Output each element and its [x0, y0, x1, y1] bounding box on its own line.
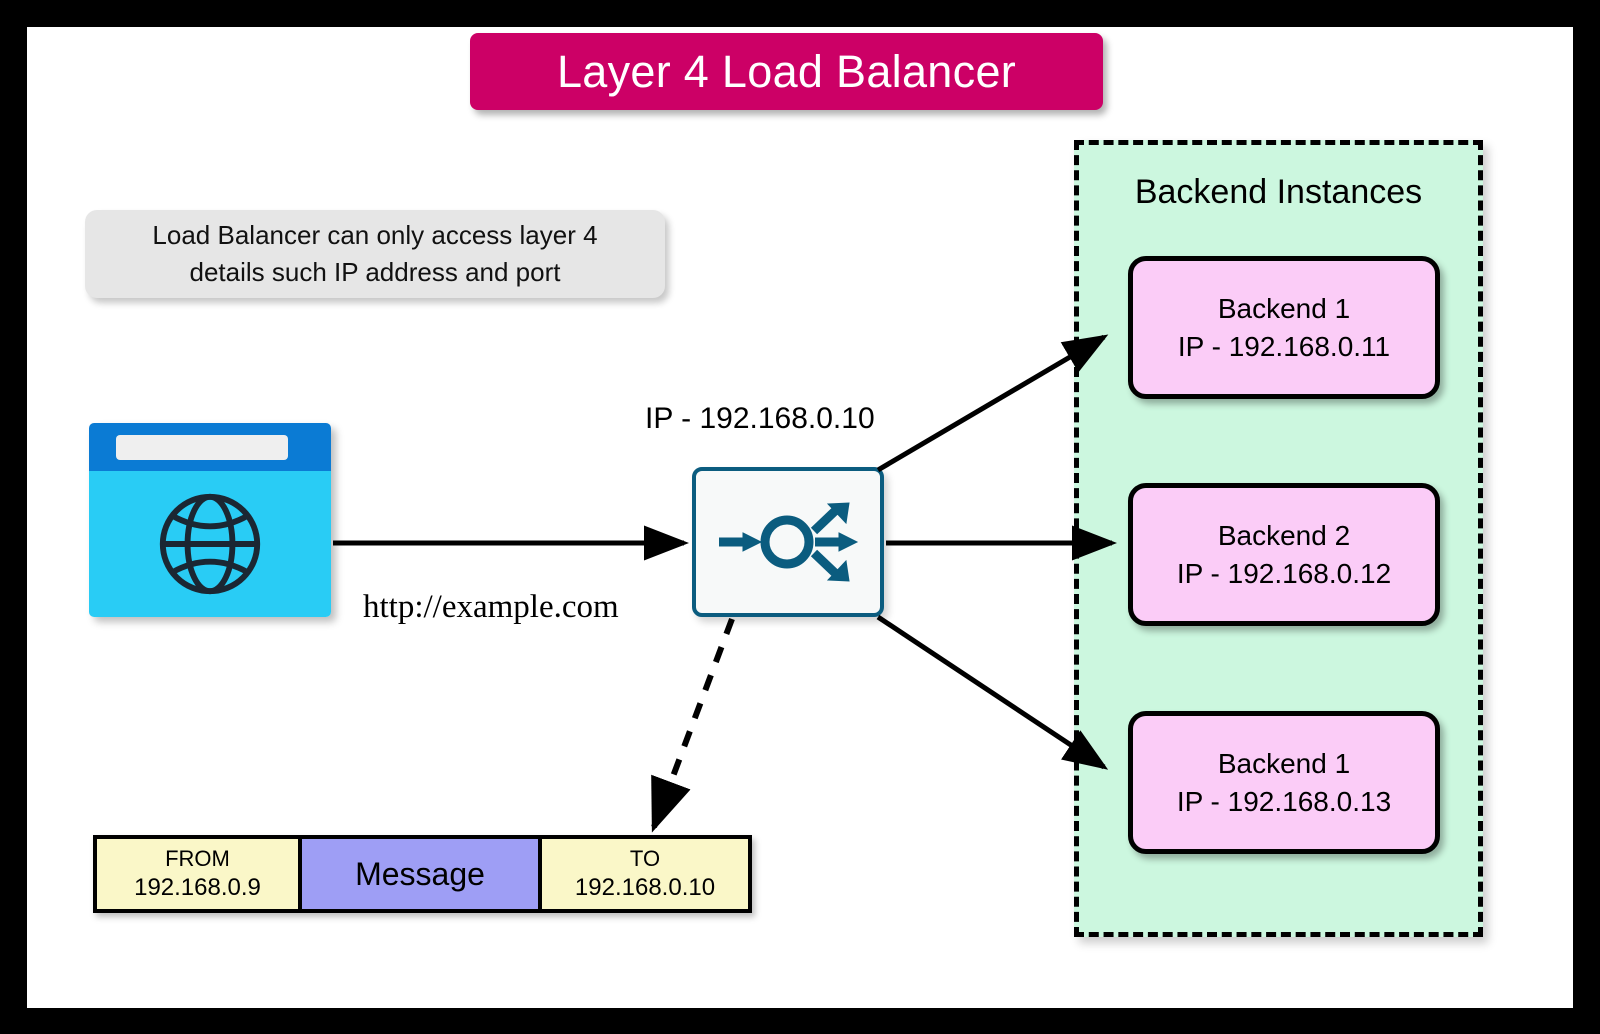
- backend-instances-group: Backend Instances Backend 1 IP - 192.168…: [1074, 140, 1483, 937]
- backend-instance-ip: IP - 192.168.0.11: [1178, 328, 1390, 366]
- arrow-loadbalancer-to-backend-1: [878, 337, 1104, 470]
- backend-instance-2[interactable]: Backend 2 IP - 192.168.0.12: [1128, 483, 1440, 626]
- note-line-2: details such IP address and port: [190, 254, 561, 291]
- arrow-loadbalancer-to-packet: [654, 619, 732, 827]
- packet-to-cell: TO 192.168.0.10: [542, 839, 748, 909]
- packet-from-cell: FROM 192.168.0.9: [97, 839, 302, 909]
- note-line-1: Load Balancer can only access layer 4: [152, 217, 597, 254]
- backend-instance-1[interactable]: Backend 1 IP - 192.168.0.11: [1128, 256, 1440, 399]
- backend-instance-name: Backend 2: [1218, 517, 1350, 555]
- packet-to-value: 192.168.0.10: [575, 873, 715, 903]
- load-balancer-ip-label: IP - 192.168.0.10: [645, 402, 875, 436]
- load-balancer-node: [692, 467, 884, 617]
- packet-to-label: TO: [630, 845, 660, 873]
- client-browser-icon: [89, 423, 331, 617]
- backend-instance-3[interactable]: Backend 1 IP - 192.168.0.13: [1128, 711, 1440, 854]
- note-callout: Load Balancer can only access layer 4 de…: [85, 210, 665, 298]
- arrow-loadbalancer-to-backend-3: [878, 617, 1104, 767]
- browser-body: [89, 471, 331, 617]
- packet-from-label: FROM: [165, 845, 230, 873]
- backend-instance-name: Backend 1: [1218, 290, 1350, 328]
- diagram-canvas: Layer 4 Load Balancer Load Balancer can …: [27, 27, 1573, 1008]
- load-balancer-distribute-icon: [713, 497, 863, 587]
- packet-message-label: Message: [355, 856, 485, 893]
- packet-message-cell: Message: [302, 839, 542, 909]
- request-url-label: http://example.com: [363, 589, 619, 626]
- browser-titlebar: [89, 423, 331, 471]
- packet-diagram: FROM 192.168.0.9 Message TO 192.168.0.10: [93, 835, 752, 913]
- backend-instance-ip: IP - 192.168.0.12: [1177, 555, 1391, 593]
- backend-instance-name: Backend 1: [1218, 745, 1350, 783]
- globe-icon: [151, 485, 269, 603]
- diagram-title-banner: Layer 4 Load Balancer: [470, 33, 1103, 110]
- backend-group-title: Backend Instances: [1079, 173, 1478, 212]
- browser-address-bar: [116, 435, 288, 460]
- backend-instance-ip: IP - 192.168.0.13: [1177, 783, 1391, 821]
- page-title: Layer 4 Load Balancer: [557, 46, 1016, 98]
- packet-from-value: 192.168.0.9: [134, 873, 261, 903]
